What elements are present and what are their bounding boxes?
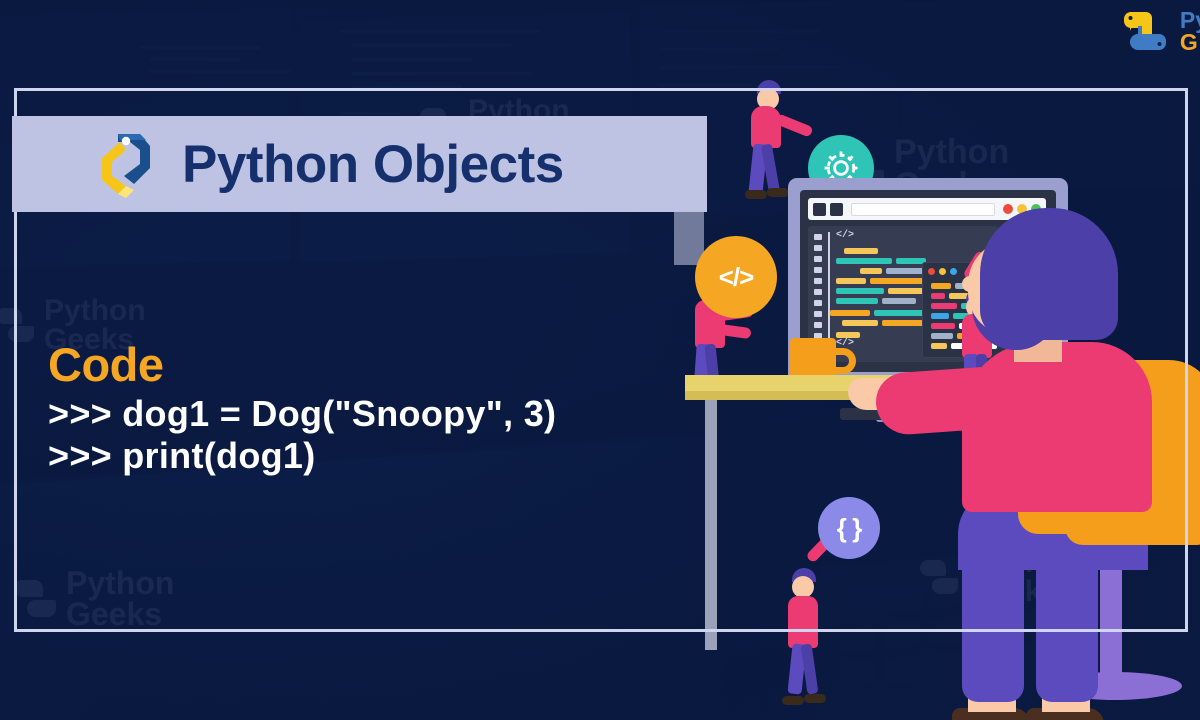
desk-leg-left (705, 400, 717, 650)
developer-torso (962, 342, 1152, 512)
python-snake-icon (14, 578, 56, 620)
code-badge-glyph: </> (719, 262, 754, 293)
developer-hair (980, 208, 1118, 340)
code-line: >>> print(dog1) (48, 435, 556, 477)
window-close-dot (1003, 204, 1013, 214)
toolbar-square-icon (813, 203, 826, 216)
toolbar-square-icon (830, 203, 843, 216)
code-section: Code >>> dog1 = Dog("Snoopy", 3) >>> pri… (48, 340, 556, 477)
logo-line2: G (1180, 32, 1200, 54)
code-heading: Code (48, 340, 556, 389)
developer-at-desk-illustration: </> </> (680, 60, 1200, 720)
browser-toolbar (808, 198, 1046, 220)
python-geeks-snake-icon (1118, 8, 1172, 56)
braces-badge-glyph: { } (837, 513, 861, 544)
developer-nose (962, 276, 980, 292)
python-geeks-wordmark: Py G (1180, 10, 1200, 53)
small-person-braces (780, 538, 840, 698)
python-geeks-logo: Py G (1118, 8, 1200, 56)
url-bar (851, 203, 995, 216)
code-lines: >>> dog1 = Dog("Snoopy", 3) >>> print(do… (48, 393, 556, 477)
watermark-line1: Python (44, 294, 146, 327)
code-tag-open: </> (836, 230, 854, 241)
watermark-line2: Geeks (66, 596, 162, 632)
title-banner: Python Objects (12, 116, 707, 212)
watermark-bottom-left: Python Geeks (14, 568, 174, 631)
code-line: >>> dog1 = Dog("Snoopy", 3) (48, 393, 556, 435)
small-person-gear (735, 80, 805, 190)
braces-badge: { } (818, 497, 880, 559)
page-title: Python Objects (182, 134, 564, 195)
python-snake-icon (0, 306, 34, 344)
python-hexagon-logo-icon (90, 128, 162, 200)
code-badge: </> (695, 236, 777, 318)
